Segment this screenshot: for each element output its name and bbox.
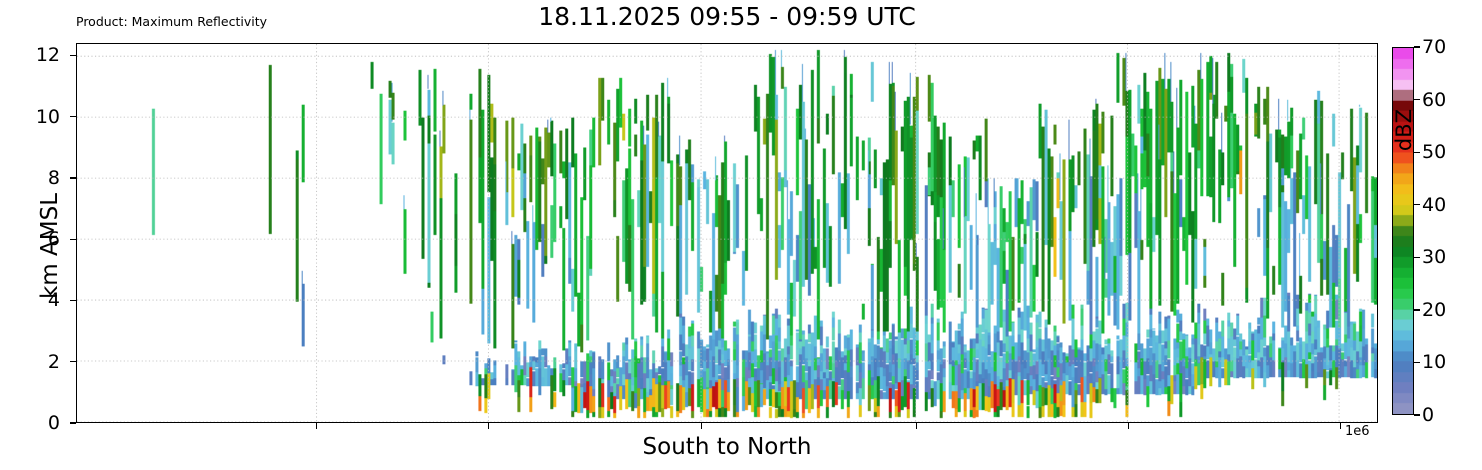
- y-axis-tick-label: 6: [48, 228, 60, 250]
- colorbar-tick-label: 70: [1422, 36, 1446, 58]
- page-title: 18.11.2025 09:55 - 09:59 UTC: [76, 2, 1378, 31]
- y-axis-tick-labels: 024681012: [0, 0, 70, 470]
- x-axis-tick-mark: [1128, 423, 1129, 429]
- colorbar-tick-mark: [1414, 46, 1420, 47]
- colorbar-tick-label: 10: [1422, 351, 1446, 373]
- colorbar-tick-label: 0: [1422, 404, 1434, 426]
- colorbar-tick-mark: [1414, 414, 1420, 415]
- y-axis-tick-label: 0: [48, 412, 60, 434]
- x-axis-tick-mark: [701, 423, 702, 429]
- y-axis-tick-mark: [70, 55, 76, 56]
- y-axis-tick-mark: [70, 116, 76, 117]
- colorbar-title: dBZ: [1392, 70, 1416, 190]
- radar-cross-section-figure: Product: Maximum Reflectivity 18.11.2025…: [0, 0, 1482, 470]
- colorbar-tick-mark: [1414, 204, 1420, 205]
- y-axis-tick-label: 12: [36, 44, 60, 66]
- y-axis-tick-label: 10: [36, 106, 60, 128]
- x-axis-title: South to North: [76, 434, 1378, 460]
- y-axis-tick-mark: [70, 300, 76, 301]
- y-axis-tick-mark: [70, 177, 76, 178]
- colorbar-tick-label: 60: [1422, 89, 1446, 111]
- colorbar-tick-label: 20: [1422, 299, 1446, 321]
- reflectivity-heatmap: [77, 44, 1377, 422]
- x-axis-tick-mark: [316, 423, 317, 429]
- plot-area: [76, 43, 1378, 423]
- y-axis-tick-label: 8: [48, 167, 60, 189]
- colorbar-tick-mark: [1414, 99, 1420, 100]
- x-axis-offset-text: 1e6: [1345, 424, 1370, 439]
- y-axis-tick-mark: [70, 422, 76, 423]
- y-axis-tick-label: 2: [48, 351, 60, 373]
- colorbar-tick-mark: [1414, 362, 1420, 363]
- colorbar-tick-mark: [1414, 152, 1420, 153]
- y-axis-tick-label: 4: [48, 289, 60, 311]
- colorbar-tick-label: 40: [1422, 194, 1446, 216]
- x-axis-tick-mark: [488, 423, 489, 429]
- y-axis-tick-mark: [70, 239, 76, 240]
- colorbar-tick-label: 30: [1422, 246, 1446, 268]
- colorbar-tick-mark: [1414, 309, 1420, 310]
- colorbar-tick-label: 50: [1422, 141, 1446, 163]
- colorbar-tick-mark: [1414, 257, 1420, 258]
- y-axis-tick-mark: [70, 361, 76, 362]
- x-axis-tick-mark: [916, 423, 917, 429]
- x-axis-tick-mark: [1340, 423, 1341, 429]
